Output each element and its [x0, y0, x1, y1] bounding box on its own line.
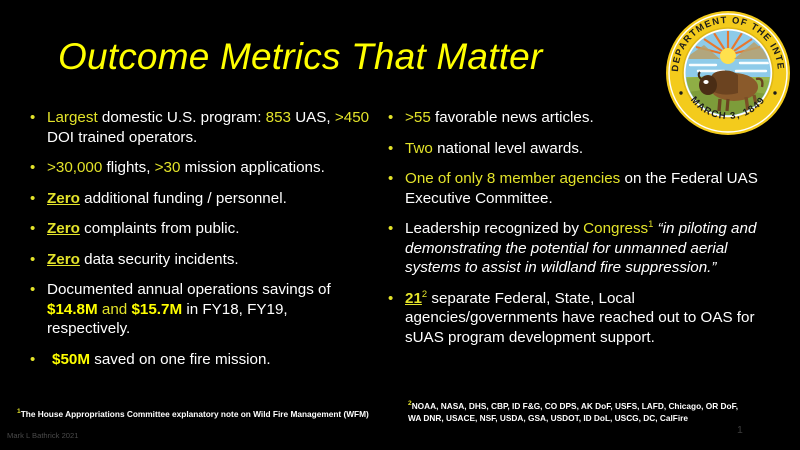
right-bullet-column: >55 favorable news articles.Two national…: [380, 108, 784, 358]
bullet-outreach-agencies: 212 separate Federal, State, Local agenc…: [380, 289, 784, 348]
bullet-text-segment: Two: [405, 140, 433, 157]
bullet-text-segment: One of only 8 member agencies: [405, 170, 620, 187]
bullet-flights-missions: >30,000 flights, >30 mission application…: [22, 158, 372, 178]
author-credit: Mark L Bathrick 2021: [7, 431, 78, 440]
footnote-one: 1The House Appropriations Committee expl…: [17, 409, 397, 421]
left-bullet-column: Largest domestic U.S. program: 853 UAS, …: [22, 108, 372, 380]
bullet-text-segment: $14.8M: [47, 301, 98, 318]
bullet-text-segment: Leadership recognized by: [405, 220, 583, 237]
bullet-text-segment: 853: [266, 109, 291, 126]
bullet-fire-mission-savings: $50M saved on one fire mission.: [22, 350, 372, 370]
bullet-text-segment: Zero: [47, 190, 80, 207]
bullet-text-segment: Zero: [47, 251, 80, 268]
bullet-text-segment: data security incidents.: [80, 251, 239, 268]
bullet-zero-security: Zero data security incidents.: [22, 250, 372, 270]
bullet-text-segment: complaints from public.: [80, 220, 240, 237]
bullet-text-segment: 21: [405, 290, 422, 307]
bullet-text-segment: >30: [155, 159, 181, 176]
bullet-text-segment: mission applications.: [180, 159, 324, 176]
bullet-annual-savings: Documented annual operations savings of …: [22, 280, 372, 339]
bullet-text-segment: Documented annual operations savings of: [47, 281, 331, 298]
bullet-text-segment: additional funding / personnel.: [80, 190, 287, 207]
bullet-text-segment: Largest: [47, 109, 98, 126]
footnote-text: The House Appropriations Committee expla…: [21, 409, 369, 419]
bullet-text-segment: and: [98, 301, 132, 318]
footnote-two: 2NOAA, NASA, DHS, CBP, ID F&G, CO DPS, A…: [408, 401, 748, 424]
bullet-text-segment: Zero: [47, 220, 80, 237]
bullet-zero-funding: Zero additional funding / personnel.: [22, 189, 372, 209]
bullet-text-segment: domestic U.S. program:: [98, 109, 266, 126]
bullet-text-segment: Congress: [583, 220, 648, 237]
bullet-news-articles: >55 favorable news articles.: [380, 108, 784, 128]
bullet-text-segment: $15.7M: [131, 301, 182, 318]
page-title: Outcome Metrics That Matter: [58, 36, 542, 78]
bullet-text-segment: >55: [405, 109, 431, 126]
footnote-text: NOAA, NASA, DHS, CBP, ID F&G, CO DPS, AK…: [408, 401, 738, 423]
bullet-congress-recognition: Leadership recognized by Congress1 “in p…: [380, 219, 784, 278]
bullet-member-agencies: One of only 8 member agencies on the Fed…: [380, 169, 784, 208]
bullet-text-segment: UAS,: [291, 109, 335, 126]
presentation-slide: Outcome Metrics That Matter: [0, 0, 800, 450]
bullet-text-segment: DOI trained operators.: [47, 129, 197, 146]
bullet-text-segment: favorable news articles.: [431, 109, 594, 126]
bullet-text-segment: separate Federal, State, Local agencies/…: [405, 290, 755, 346]
bullet-national-awards: Two national level awards.: [380, 139, 784, 159]
bullet-text-segment: >30,000: [47, 159, 102, 176]
bullet-text-segment: saved on one fire mission.: [90, 351, 271, 368]
bullet-text-segment: $50M: [52, 351, 90, 368]
page-number: 1: [737, 424, 743, 436]
bullet-largest-program: Largest domestic U.S. program: 853 UAS, …: [22, 108, 372, 147]
bullet-text-segment: >450: [335, 109, 369, 126]
bullet-text-segment: national level awards.: [433, 140, 583, 157]
bullet-zero-complaints: Zero complaints from public.: [22, 219, 372, 239]
bullet-text-segment: flights,: [102, 159, 154, 176]
